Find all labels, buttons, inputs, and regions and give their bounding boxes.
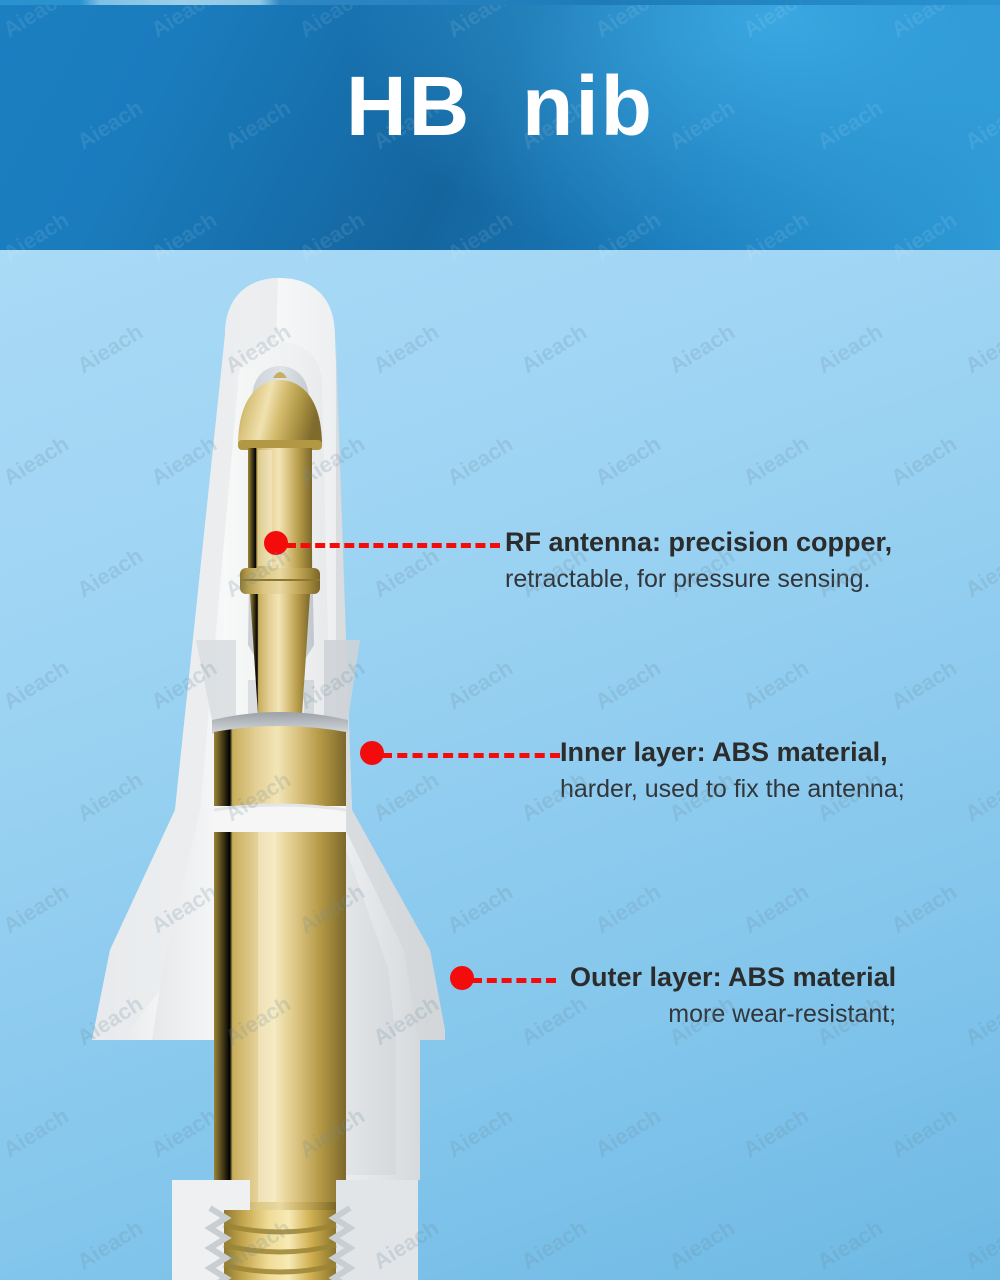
barrel-upper-segment [214, 726, 346, 810]
callout-line-rf-antenna [286, 543, 500, 548]
barrel-white-band [214, 806, 346, 832]
callout-line-outer-layer [472, 978, 556, 983]
callout-line-inner-layer [382, 753, 560, 758]
callout-subtitle-rf-antenna: retractable, for pressure sensing. [505, 564, 892, 594]
page-title: HB nib [0, 64, 1000, 148]
callout-subtitle-outer-layer: more wear-resistant; [570, 999, 896, 1029]
callout-dot-rf-antenna [264, 531, 288, 555]
callout-dot-outer-layer [450, 966, 474, 990]
nib-diagram-svg [0, 250, 560, 1280]
internal-ledge-right [324, 640, 360, 720]
top-highlight-strip [0, 0, 1000, 5]
callout-text-inner-layer: Inner layer: ABS material, harder, used … [560, 737, 905, 804]
callout-text-rf-antenna: RF antenna: precision copper, retractabl… [505, 527, 892, 594]
barrel-highlight [258, 832, 276, 1202]
screw-threads [210, 1208, 350, 1280]
callout-text-outer-layer: Outer layer: ABS material more wear-resi… [570, 962, 896, 1029]
antenna-tapered-body [250, 594, 310, 715]
callout-title-inner-layer: Inner layer: ABS material, [560, 737, 905, 768]
callout-title-rf-antenna: RF antenna: precision copper, [505, 527, 892, 558]
product-infographic-page: HB nib [0, 0, 1000, 1280]
barrel-main-segment [214, 832, 346, 1202]
callout-title-outer-layer: Outer layer: ABS material [570, 962, 896, 993]
nib-cross-section-illustration [0, 250, 560, 1280]
callout-subtitle-inner-layer: harder, used to fix the antenna; [560, 774, 905, 804]
callout-dot-inner-layer [360, 741, 384, 765]
